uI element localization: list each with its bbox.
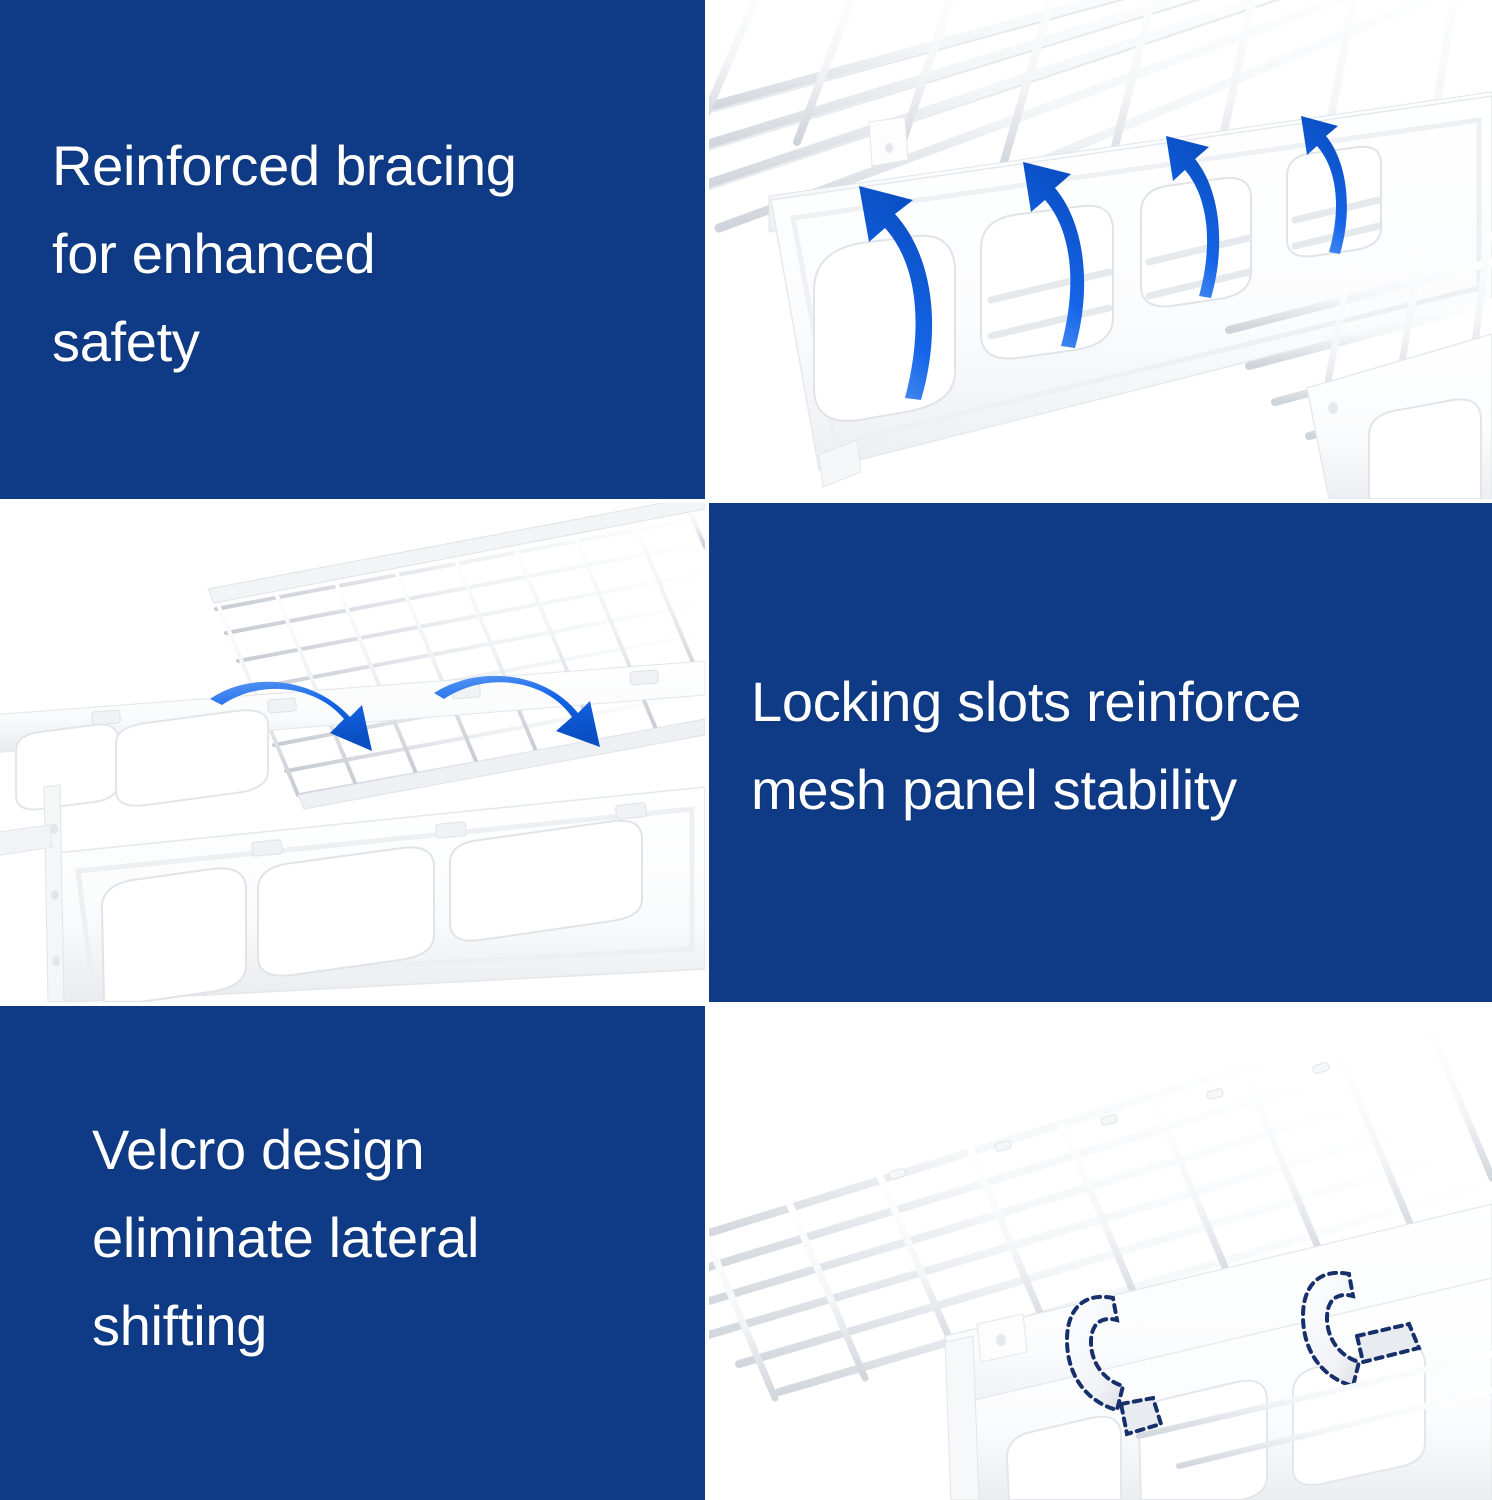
photo-velcro-straps	[709, 1006, 1492, 1500]
panel-locking-slots: Locking slots reinforce mesh panel stabi…	[709, 503, 1492, 1002]
locking-slots-scene	[0, 503, 705, 1002]
panel-reinforced-bracing: Reinforced bracing for enhanced safety	[0, 0, 705, 499]
headline-reinforced-bracing: Reinforced bracing for enhanced safety	[52, 122, 672, 386]
photo-locking-slots	[0, 503, 705, 1002]
headline-velcro-design: Velcro design eliminate lateral shifting	[92, 1106, 692, 1370]
product-feature-infographic: Reinforced bracing for enhanced safety	[0, 0, 1492, 1500]
headline-locking-slots: Locking slots reinforce mesh panel stabi…	[751, 658, 1451, 834]
left-support-leg	[945, 1336, 979, 1500]
bracing-scene	[709, 0, 1492, 499]
lower-bracket-cutout	[1369, 399, 1481, 499]
locking-tab	[869, 117, 908, 166]
panel-velcro-design: Velcro design eliminate lateral shifting	[0, 1006, 705, 1500]
velcro-scene	[709, 1006, 1492, 1500]
photo-reinforced-bracing	[709, 0, 1492, 499]
